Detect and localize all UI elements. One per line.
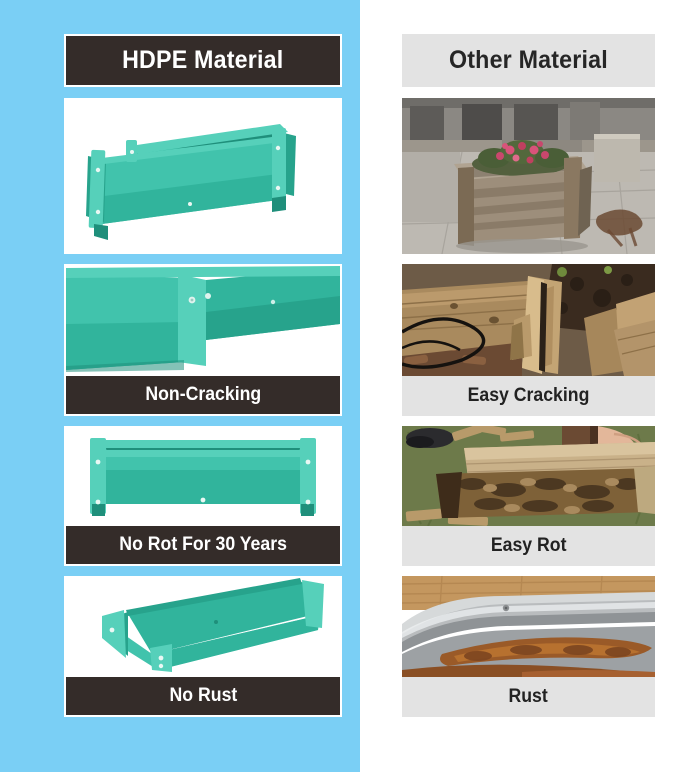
other-caption-4: Rust — [509, 686, 548, 708]
hdpe-card-1 — [64, 98, 342, 254]
other-caption-bar-4: Rust — [402, 677, 655, 717]
other-caption-3: Easy Rot — [491, 535, 567, 557]
hdpe-caption-bar-2: Non-Cracking — [64, 376, 342, 416]
hdpe-caption-4: No Rust — [169, 685, 237, 707]
other-header-bar: Other Material — [402, 34, 655, 87]
teal-planter-interior-illustration — [66, 578, 340, 675]
hdpe-card-3: No Rot For 30 Years — [64, 426, 342, 566]
comparison-infographic: HDPE Material — [0, 0, 679, 772]
other-image-rotted-wood — [402, 426, 655, 526]
other-header-label: Other Material — [449, 46, 608, 75]
other-caption-bar-2: Easy Cracking — [402, 376, 655, 416]
hdpe-header-label: HDPE Material — [122, 46, 283, 75]
hdpe-card-2: Non-Cracking — [64, 264, 342, 416]
other-image-cracked-wood — [402, 264, 655, 376]
teal-planter-angled-illustration — [66, 100, 340, 252]
hdpe-image-corner-closeup — [64, 264, 342, 376]
rotted-wood-photo — [402, 426, 655, 526]
hdpe-image-planter-interior — [64, 576, 342, 677]
hdpe-caption-bar-3: No Rot For 30 Years — [64, 526, 342, 566]
weathered-wood-planter-photo — [402, 98, 655, 254]
teal-corner-closeup-illustration — [66, 266, 340, 374]
hdpe-image-planter-angled — [64, 98, 342, 254]
hdpe-caption-3: No Rot For 30 Years — [119, 534, 287, 556]
hdpe-caption-bar-4: No Rust — [64, 677, 342, 717]
hdpe-caption-2: Non-Cracking — [145, 384, 261, 406]
cracked-wood-photo — [402, 264, 655, 376]
other-card-1 — [402, 98, 655, 254]
hdpe-image-planter-front — [64, 426, 342, 526]
other-image-rusted-metal — [402, 576, 655, 677]
other-caption-2: Easy Cracking — [468, 385, 590, 407]
hdpe-card-4: No Rust — [64, 576, 342, 717]
other-image-wood-planter-street — [402, 98, 655, 254]
other-card-2: Easy Cracking — [402, 264, 655, 416]
other-caption-bar-3: Easy Rot — [402, 526, 655, 566]
rusted-metal-photo — [402, 576, 655, 677]
teal-planter-front-illustration — [66, 428, 340, 524]
hdpe-material-panel: HDPE Material — [0, 0, 360, 772]
other-card-3: Easy Rot — [402, 426, 655, 566]
other-material-panel: Other Material — [360, 0, 679, 772]
hdpe-header-bar: HDPE Material — [64, 34, 342, 87]
other-card-4: Rust — [402, 576, 655, 717]
